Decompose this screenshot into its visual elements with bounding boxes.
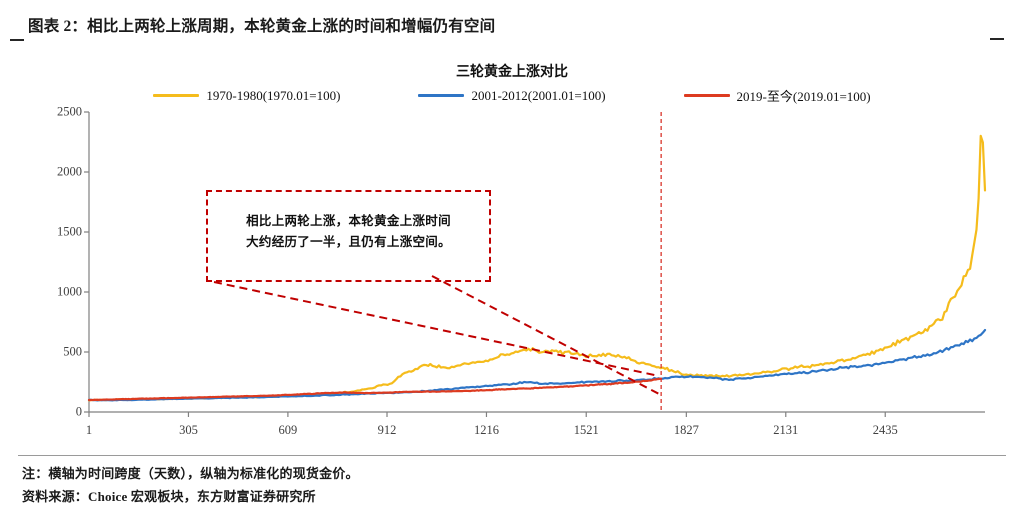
callout-leader-line-1 — [214, 282, 659, 376]
annotation-line-2: 大约经历了一半，且仍有上涨空间。 — [208, 232, 489, 253]
x-tick-label: 1521 — [574, 423, 599, 438]
x-tick-label: 2131 — [773, 423, 798, 438]
x-tick-label: 2435 — [873, 423, 898, 438]
x-tick-label: 609 — [279, 423, 298, 438]
footer-note: 注：横轴为时间跨度（天数），纵轴为标准化的现货金价。 — [22, 463, 359, 482]
annotation-callout-box: 相比上两轮上涨，本轮黄金上涨时间 大约经历了一半，且仍有上涨空间。 — [206, 190, 491, 282]
y-tick-label: 1000 — [40, 285, 82, 300]
y-tick-label: 500 — [40, 345, 82, 360]
annotation-line-1: 相比上两轮上涨，本轮黄金上涨时间 — [208, 211, 489, 232]
x-tick-label: 305 — [179, 423, 198, 438]
y-tick-label: 1500 — [40, 225, 82, 240]
y-tick-label: 0 — [40, 405, 82, 420]
annotation-text: 相比上两轮上涨，本轮黄金上涨时间 大约经历了一半，且仍有上涨空间。 — [208, 211, 489, 252]
chart-svg — [0, 0, 1024, 510]
x-tick-label: 912 — [378, 423, 397, 438]
x-tick-label: 1216 — [474, 423, 499, 438]
footer-divider — [18, 455, 1006, 456]
plot-area — [0, 0, 1024, 510]
figure-root: 图表 2：相比上两轮上涨周期，本轮黄金上涨的时间和增幅仍有空间 三轮黄金上涨对比… — [0, 0, 1024, 510]
y-tick-label: 2000 — [40, 165, 82, 180]
x-tick-label: 1827 — [674, 423, 699, 438]
footer-source: 资料来源：Choice 宏观板块，东方财富证券研究所 — [22, 486, 316, 505]
series-line-1 — [89, 330, 985, 400]
x-tick-label: 1 — [86, 423, 92, 438]
y-tick-label: 2500 — [40, 105, 82, 120]
callout-leader-line-2 — [432, 276, 659, 394]
